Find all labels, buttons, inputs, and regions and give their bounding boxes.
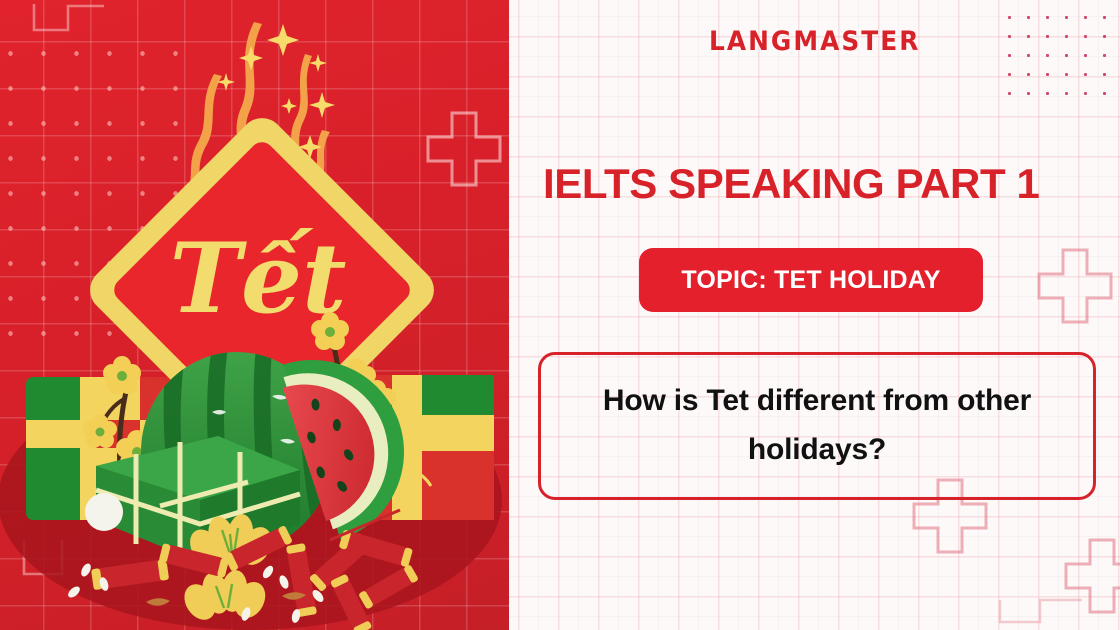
illustration-panel: Tết	[0, 0, 509, 630]
plus-icon	[1039, 250, 1111, 322]
topic-badge: TOPIC: TET HOLIDAY	[639, 248, 983, 312]
plus-icon	[428, 113, 500, 185]
question-box: How is Tet different from other holidays…	[538, 352, 1096, 500]
langmaster-logo: LANGMASTER	[709, 26, 920, 57]
step-line-decoration	[34, 4, 104, 30]
step-line-decoration	[1000, 600, 1082, 622]
page-title: IELTS SPEAKING PART 1	[543, 160, 1103, 208]
tet-sign-text: Tết	[170, 222, 347, 335]
tet-illustration: Tết	[0, 0, 509, 630]
topic-badge-label: TOPIC: TET HOLIDAY	[681, 266, 940, 295]
slide-canvas: Tết	[0, 0, 1120, 630]
question-text: How is Tet different from other holidays…	[558, 377, 1077, 474]
